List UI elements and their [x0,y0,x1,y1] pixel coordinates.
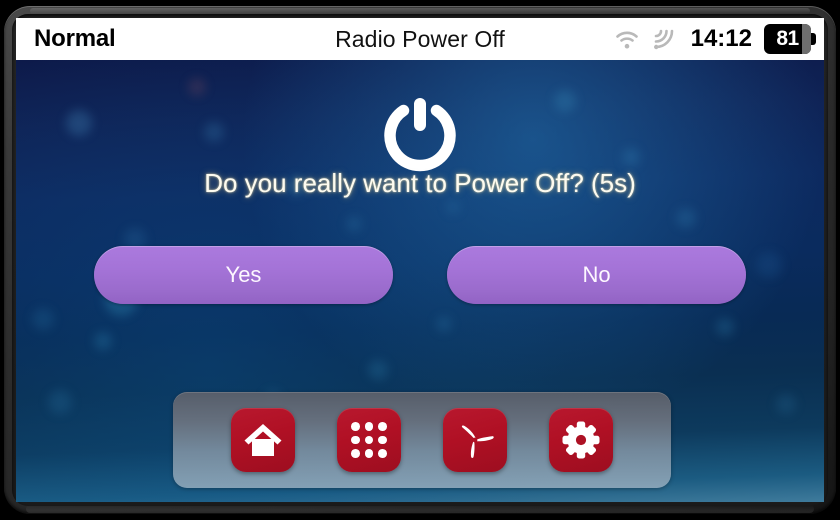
bokeh-dot [716,318,734,336]
screen: Normal Radio Power Off [16,18,824,502]
bokeh-dot [204,122,224,142]
status-clock: 14:12 [691,25,752,53]
power-icon [377,90,463,176]
bokeh-dot [66,110,92,136]
bokeh-dot [94,332,112,350]
propeller-icon [454,419,496,461]
battery-icon: 81 [764,24,816,54]
device-frame: Normal Radio Power Off [0,0,840,520]
cancel-no-button[interactable]: No [447,246,746,304]
bokeh-dot [346,216,362,232]
bokeh-dot [436,316,452,332]
dialog-message: Do you really want to Power Off? (5s) [16,168,824,199]
dock [173,392,671,488]
bokeh-dot [622,148,640,166]
gear-icon [561,420,601,460]
cellular-signal-icon [651,27,677,51]
bokeh-dot [676,208,696,228]
bokeh-dot [446,200,460,214]
status-bar-right-group: 14:12 81 [613,18,816,60]
home-icon [243,421,283,459]
status-bar: Normal Radio Power Off [16,18,824,60]
bokeh-dot [32,308,54,330]
dialog-button-row: Yes No [16,246,824,304]
confirm-yes-button[interactable]: Yes [94,246,393,304]
bokeh-dot [776,394,796,414]
dock-item-propeller[interactable] [443,408,507,472]
dock-item-home[interactable] [231,408,295,472]
app-grid-icon [351,422,387,458]
dock-item-apps[interactable] [337,408,401,472]
bokeh-dot [368,360,388,380]
bezel-bottom-highlight [26,505,814,513]
bokeh-dot [48,390,72,414]
bokeh-dot [554,90,576,112]
bokeh-dot [188,78,206,96]
wifi-icon [613,27,641,51]
dock-item-settings[interactable] [549,408,613,472]
battery-percent-label: 81 [764,24,811,54]
bezel-top-highlight [30,8,810,14]
